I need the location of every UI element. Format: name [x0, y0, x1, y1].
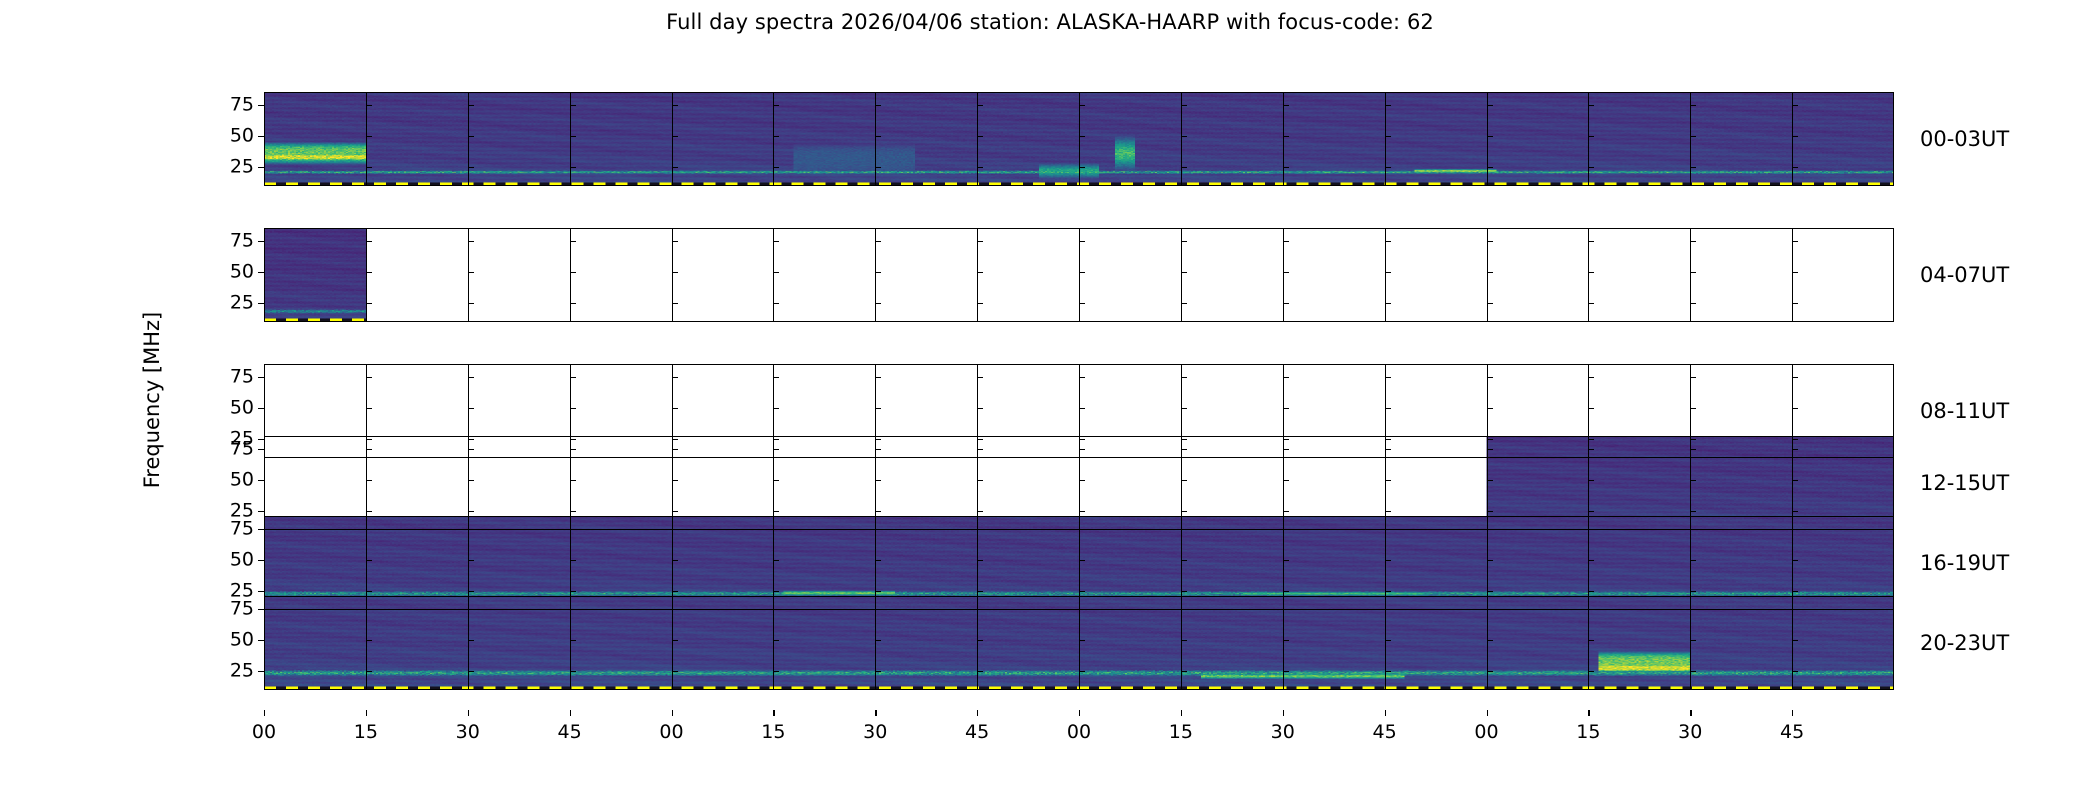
column-separator	[1283, 596, 1284, 690]
row-label-12-15ut: 12-15UT	[1920, 471, 2009, 495]
y-tick-mark-inner	[366, 241, 372, 242]
x-tick-label: 00	[659, 723, 683, 742]
y-tick-mark-inner	[1385, 480, 1391, 481]
y-tick-mark-inner	[1487, 591, 1493, 592]
y-tick-mark-inner	[1079, 105, 1085, 106]
y-tick-label: 75	[230, 599, 254, 618]
y-tick-mark-inner	[1283, 449, 1289, 450]
y-tick-mark-inner	[1079, 640, 1085, 641]
y-tick-mark-inner	[1283, 480, 1289, 481]
column-separator	[570, 228, 571, 322]
y-tick-mark-inner	[1181, 529, 1187, 530]
y-tick-mark-inner	[366, 449, 372, 450]
x-tick-mark	[570, 710, 571, 716]
y-tick-mark-inner	[1385, 272, 1391, 273]
y-tick-mark-inner	[977, 640, 983, 641]
column-separator	[570, 596, 571, 690]
y-tick-mark-inner	[773, 591, 779, 592]
y-tick-mark-inner	[977, 609, 983, 610]
y-tick-mark-inner	[1385, 640, 1391, 641]
y-tick-mark-inner	[1079, 511, 1085, 512]
y-tick-mark-inner	[468, 529, 474, 530]
x-tick-mark	[977, 710, 978, 716]
y-tick-mark-inner	[977, 241, 983, 242]
y-tick-mark-inner	[1283, 609, 1289, 610]
y-tick-mark-inner	[570, 449, 576, 450]
y-tick-mark-inner	[1792, 241, 1798, 242]
y-tick-mark-inner	[1385, 408, 1391, 409]
y-tick-mark-inner	[1690, 671, 1696, 672]
y-tick-mark-inner	[1385, 105, 1391, 106]
column-separator	[1690, 596, 1691, 690]
y-tick-mark-inner	[977, 136, 983, 137]
y-tick-label: 50	[230, 470, 254, 489]
y-tick-mark-inner	[570, 480, 576, 481]
y-tick-mark-inner	[1588, 609, 1594, 610]
y-tick-mark-inner	[1792, 439, 1798, 440]
y-tick-mark-inner	[468, 105, 474, 106]
spectrogram-row-00-03ut[interactable]: 75502500-03UT	[264, 92, 1894, 186]
column-separator	[1588, 596, 1589, 690]
y-tick-mark	[258, 609, 264, 610]
y-tick-mark-inner	[1690, 439, 1696, 440]
y-tick-mark	[258, 591, 264, 592]
y-tick-mark-inner	[1283, 105, 1289, 106]
x-tick-label: 00	[252, 723, 276, 742]
y-tick-mark-inner	[672, 136, 678, 137]
y-tick-mark-inner	[1385, 136, 1391, 137]
y-tick-mark-inner	[773, 609, 779, 610]
y-tick-mark-inner	[773, 671, 779, 672]
y-tick-mark-inner	[1588, 439, 1594, 440]
x-tick-mark	[1792, 710, 1793, 716]
spectrogram-row-04-07ut[interactable]: 75502504-07UT	[264, 228, 1894, 322]
y-tick-mark-inner	[1283, 408, 1289, 409]
column-separator	[366, 596, 367, 690]
y-tick-mark-inner	[366, 529, 372, 530]
column-separator	[468, 228, 469, 322]
y-tick-mark-inner	[1385, 241, 1391, 242]
y-tick-mark-inner	[1690, 241, 1696, 242]
y-tick-mark-inner	[977, 105, 983, 106]
y-tick-mark-inner	[468, 480, 474, 481]
y-tick-mark-inner	[773, 511, 779, 512]
y-tick-mark-inner	[1385, 591, 1391, 592]
y-tick-mark-inner	[1792, 671, 1798, 672]
y-tick-mark-inner	[468, 449, 474, 450]
y-tick-mark-inner	[1588, 640, 1594, 641]
y-tick-mark-inner	[1487, 609, 1493, 610]
y-tick-mark-inner	[1792, 640, 1798, 641]
y-tick-mark-inner	[570, 408, 576, 409]
x-tick-mark	[1588, 710, 1589, 716]
y-tick-mark-inner	[672, 449, 678, 450]
column-separator	[1792, 596, 1793, 690]
y-tick-mark-inner	[1181, 640, 1187, 641]
y-tick-mark-inner	[570, 529, 576, 530]
x-tick-mark	[773, 710, 774, 716]
y-tick-mark-inner	[1690, 136, 1696, 137]
y-tick-mark-inner	[1690, 449, 1696, 450]
y-tick-mark-inner	[366, 272, 372, 273]
y-tick-mark-inner	[1588, 136, 1594, 137]
x-tick-mark	[1283, 710, 1284, 716]
y-tick-mark-inner	[1792, 303, 1798, 304]
y-tick-mark-inner	[672, 480, 678, 481]
y-tick-mark-inner	[1385, 671, 1391, 672]
y-axis-label: Frequency [MHz]	[140, 312, 164, 488]
y-tick-mark-inner	[468, 560, 474, 561]
y-tick-mark-inner	[977, 591, 983, 592]
y-tick-mark-inner	[1283, 303, 1289, 304]
y-tick-mark-inner	[1588, 408, 1594, 409]
y-tick-mark-inner	[1792, 272, 1798, 273]
y-tick-mark-inner	[1283, 167, 1289, 168]
column-separator	[773, 596, 774, 690]
y-tick-mark-inner	[366, 609, 372, 610]
y-tick-mark-inner	[1385, 529, 1391, 530]
x-tick-mark	[366, 710, 367, 716]
y-tick-mark-inner	[468, 408, 474, 409]
y-tick-mark-inner	[977, 167, 983, 168]
y-tick-mark	[258, 241, 264, 242]
y-tick-mark-inner	[468, 671, 474, 672]
y-tick-mark-inner	[1487, 671, 1493, 672]
y-tick-mark-inner	[875, 408, 881, 409]
y-tick-mark-inner	[1487, 167, 1493, 168]
y-tick-mark-inner	[570, 303, 576, 304]
x-tick-label: 45	[1373, 723, 1397, 742]
y-tick-mark-inner	[1792, 377, 1798, 378]
y-tick-mark-inner	[366, 408, 372, 409]
y-tick-mark-inner	[1588, 167, 1594, 168]
y-tick-mark-inner	[672, 377, 678, 378]
y-tick-mark	[258, 136, 264, 137]
y-tick-mark-inner	[1079, 439, 1085, 440]
y-tick-mark-inner	[672, 529, 678, 530]
x-tick-label: 45	[558, 723, 582, 742]
x-tick-label: 15	[761, 723, 785, 742]
y-tick-label: 50	[230, 550, 254, 569]
column-separator	[1792, 228, 1793, 322]
y-tick-label: 75	[230, 367, 254, 386]
y-tick-mark-inner	[875, 377, 881, 378]
y-tick-mark	[258, 439, 264, 440]
y-tick-mark-inner	[773, 408, 779, 409]
column-separator	[1385, 228, 1386, 322]
y-tick-mark-inner	[1792, 105, 1798, 106]
y-tick-mark-inner	[366, 136, 372, 137]
y-tick-mark-inner	[977, 480, 983, 481]
y-tick-mark-inner	[672, 560, 678, 561]
column-separator	[1487, 92, 1488, 186]
y-tick-mark-inner	[1079, 560, 1085, 561]
column-separator	[1690, 228, 1691, 322]
y-tick-mark	[258, 671, 264, 672]
y-tick-mark-inner	[1588, 591, 1594, 592]
spectrogram-figure: Full day spectra 2026/04/06 station: ALA…	[0, 0, 2100, 800]
y-tick-mark-inner	[366, 671, 372, 672]
column-separator	[1283, 228, 1284, 322]
y-tick-mark-inner	[366, 511, 372, 512]
x-tick-mark	[1079, 710, 1080, 716]
x-tick-label: 15	[354, 723, 378, 742]
x-tick-label: 30	[1271, 723, 1295, 742]
y-tick-mark-inner	[468, 439, 474, 440]
y-tick-mark-inner	[366, 591, 372, 592]
y-tick-mark-inner	[366, 377, 372, 378]
y-tick-mark-inner	[1181, 303, 1187, 304]
y-tick-mark-inner	[366, 105, 372, 106]
y-tick-mark-inner	[1283, 272, 1289, 273]
y-tick-mark-inner	[1588, 560, 1594, 561]
y-tick-mark-inner	[1181, 560, 1187, 561]
y-tick-label: 25	[230, 294, 254, 313]
y-tick-mark-inner	[570, 609, 576, 610]
x-tick-label: 00	[1067, 723, 1091, 742]
y-tick-mark-inner	[570, 105, 576, 106]
y-tick-label: 75	[230, 439, 254, 458]
y-tick-mark-inner	[773, 105, 779, 106]
y-tick-mark-inner	[366, 167, 372, 168]
y-tick-mark-inner	[1079, 136, 1085, 137]
y-tick-mark	[258, 560, 264, 561]
y-tick-mark-inner	[468, 511, 474, 512]
spectrogram-row-20-23ut[interactable]: 75502520-23UT	[264, 596, 1894, 690]
x-tick-label: 30	[863, 723, 887, 742]
y-tick-mark-inner	[1487, 241, 1493, 242]
y-tick-mark-inner	[1588, 671, 1594, 672]
y-tick-mark-inner	[570, 560, 576, 561]
y-tick-mark-inner	[672, 241, 678, 242]
y-tick-mark-inner	[1588, 241, 1594, 242]
y-tick-mark-inner	[1792, 511, 1798, 512]
y-tick-mark-inner	[1690, 480, 1696, 481]
y-tick-mark-inner	[1181, 480, 1187, 481]
y-tick-mark-inner	[1690, 272, 1696, 273]
y-tick-mark-inner	[1079, 529, 1085, 530]
y-tick-mark-inner	[1690, 529, 1696, 530]
y-tick-label: 50	[230, 398, 254, 417]
y-tick-mark-inner	[468, 303, 474, 304]
y-tick-mark-inner	[1181, 511, 1187, 512]
row-label-04-07ut: 04-07UT	[1920, 263, 2009, 287]
y-tick-mark-inner	[1690, 609, 1696, 610]
column-separator	[366, 228, 367, 322]
y-tick-mark-inner	[1385, 377, 1391, 378]
y-tick-mark-inner	[672, 105, 678, 106]
y-tick-mark-inner	[977, 671, 983, 672]
row-label-16-19ut: 16-19UT	[1920, 551, 2009, 575]
y-tick-mark-inner	[366, 560, 372, 561]
y-tick-label: 50	[230, 630, 254, 649]
y-tick-mark-inner	[468, 591, 474, 592]
y-tick-mark-inner	[1487, 640, 1493, 641]
y-tick-mark-inner	[875, 529, 881, 530]
y-tick-mark-inner	[1181, 408, 1187, 409]
y-tick-mark-inner	[1181, 167, 1187, 168]
row-label-20-23ut: 20-23UT	[1920, 631, 2009, 655]
y-tick-mark-inner	[1792, 167, 1798, 168]
y-tick-mark-inner	[1588, 511, 1594, 512]
y-tick-mark-inner	[672, 303, 678, 304]
y-tick-mark-inner	[1385, 609, 1391, 610]
y-tick-mark-inner	[1792, 480, 1798, 481]
y-tick-mark-inner	[1283, 529, 1289, 530]
y-tick-mark-inner	[1487, 511, 1493, 512]
column-separator	[1079, 92, 1080, 186]
y-tick-mark-inner	[570, 272, 576, 273]
y-tick-mark-inner	[875, 303, 881, 304]
y-tick-mark-inner	[875, 591, 881, 592]
y-tick-mark-inner	[875, 511, 881, 512]
y-tick-mark-inner	[977, 303, 983, 304]
column-separator	[672, 228, 673, 322]
y-tick-mark-inner	[468, 136, 474, 137]
y-tick-mark-inner	[1792, 136, 1798, 137]
y-tick-label: 25	[230, 662, 254, 681]
y-tick-label: 75	[230, 519, 254, 538]
y-tick-mark-inner	[1487, 439, 1493, 440]
column-separator	[977, 228, 978, 322]
y-tick-mark	[258, 303, 264, 304]
y-tick-mark-inner	[977, 560, 983, 561]
y-tick-mark	[258, 105, 264, 106]
y-tick-mark	[258, 449, 264, 450]
y-tick-mark-inner	[1487, 377, 1493, 378]
y-tick-mark-inner	[1588, 377, 1594, 378]
y-tick-mark-inner	[1487, 529, 1493, 530]
y-tick-mark-inner	[366, 480, 372, 481]
y-tick-mark-inner	[1588, 272, 1594, 273]
y-tick-mark-inner	[468, 241, 474, 242]
y-tick-label: 50	[230, 262, 254, 281]
y-tick-mark-inner	[875, 272, 881, 273]
x-tick-label: 30	[1678, 723, 1702, 742]
y-tick-mark-inner	[1079, 671, 1085, 672]
y-tick-mark-inner	[1487, 560, 1493, 561]
y-tick-mark-inner	[1588, 105, 1594, 106]
x-tick-label: 15	[1169, 723, 1193, 742]
y-tick-mark-inner	[1792, 609, 1798, 610]
y-tick-mark-inner	[366, 640, 372, 641]
y-tick-mark-inner	[1181, 449, 1187, 450]
y-tick-mark-inner	[1690, 105, 1696, 106]
y-tick-mark-inner	[773, 303, 779, 304]
x-tick-label: 45	[1780, 723, 1804, 742]
y-tick-mark-inner	[1385, 167, 1391, 168]
y-tick-mark-inner	[672, 408, 678, 409]
column-separator	[1385, 92, 1386, 186]
y-tick-mark-inner	[773, 640, 779, 641]
y-tick-mark-inner	[773, 560, 779, 561]
y-tick-mark-inner	[1690, 511, 1696, 512]
y-tick-mark-inner	[570, 511, 576, 512]
column-separator	[1385, 596, 1386, 690]
y-tick-mark-inner	[1283, 377, 1289, 378]
y-tick-mark-inner	[773, 136, 779, 137]
y-tick-mark-inner	[875, 105, 881, 106]
y-tick-mark-inner	[875, 671, 881, 672]
y-tick-mark-inner	[672, 591, 678, 592]
y-tick-mark	[258, 272, 264, 273]
y-tick-mark-inner	[1181, 377, 1187, 378]
y-tick-mark-inner	[468, 640, 474, 641]
column-separator	[875, 92, 876, 186]
y-tick-mark-inner	[366, 303, 372, 304]
y-tick-mark-inner	[672, 640, 678, 641]
y-tick-mark-inner	[977, 408, 983, 409]
column-separator	[875, 228, 876, 322]
y-tick-mark-inner	[1690, 591, 1696, 592]
y-tick-mark-inner	[1181, 609, 1187, 610]
y-tick-mark-inner	[875, 136, 881, 137]
row-label-00-03ut: 00-03UT	[1920, 127, 2009, 151]
x-tick-label: 30	[456, 723, 480, 742]
y-tick-mark-inner	[1487, 272, 1493, 273]
y-tick-mark-inner	[1588, 529, 1594, 530]
column-separator	[1079, 596, 1080, 690]
column-separator	[773, 92, 774, 186]
column-separator	[1588, 92, 1589, 186]
y-tick-mark-inner	[570, 241, 576, 242]
y-tick-mark-inner	[1487, 303, 1493, 304]
column-separator	[1079, 228, 1080, 322]
y-tick-mark-inner	[1588, 480, 1594, 481]
y-tick-mark-inner	[977, 529, 983, 530]
y-tick-mark-inner	[672, 439, 678, 440]
y-tick-mark-inner	[1181, 671, 1187, 672]
y-tick-mark-inner	[977, 511, 983, 512]
y-tick-mark-inner	[1283, 640, 1289, 641]
y-tick-mark-inner	[977, 449, 983, 450]
y-tick-mark-inner	[1283, 560, 1289, 561]
y-tick-mark-inner	[875, 241, 881, 242]
y-tick-mark-inner	[672, 609, 678, 610]
y-tick-mark-inner	[1283, 511, 1289, 512]
y-tick-mark-inner	[875, 480, 881, 481]
column-separator	[672, 92, 673, 186]
y-tick-mark-inner	[1079, 241, 1085, 242]
y-tick-mark-inner	[468, 609, 474, 610]
y-tick-mark	[258, 511, 264, 512]
y-tick-mark-inner	[773, 480, 779, 481]
row-label-08-11ut: 08-11UT	[1920, 399, 2009, 423]
column-separator	[977, 92, 978, 186]
column-separator	[1588, 228, 1589, 322]
y-tick-label: 75	[230, 95, 254, 114]
y-tick-mark-inner	[1283, 241, 1289, 242]
y-tick-mark-inner	[1690, 640, 1696, 641]
y-tick-mark-inner	[1690, 408, 1696, 409]
y-tick-mark-inner	[1079, 167, 1085, 168]
y-tick-mark-inner	[570, 377, 576, 378]
y-tick-mark-inner	[1690, 303, 1696, 304]
y-tick-mark-inner	[1385, 560, 1391, 561]
y-tick-mark-inner	[1283, 136, 1289, 137]
x-tick-mark	[264, 710, 265, 716]
y-tick-mark-inner	[1588, 303, 1594, 304]
y-tick-mark-inner	[1792, 449, 1798, 450]
x-tick-mark	[672, 710, 673, 716]
y-tick-mark-inner	[1079, 449, 1085, 450]
y-tick-mark-inner	[1181, 136, 1187, 137]
y-tick-mark-inner	[875, 640, 881, 641]
y-tick-mark-inner	[773, 241, 779, 242]
y-tick-mark-inner	[1690, 560, 1696, 561]
column-separator	[468, 92, 469, 186]
y-tick-mark	[258, 480, 264, 481]
